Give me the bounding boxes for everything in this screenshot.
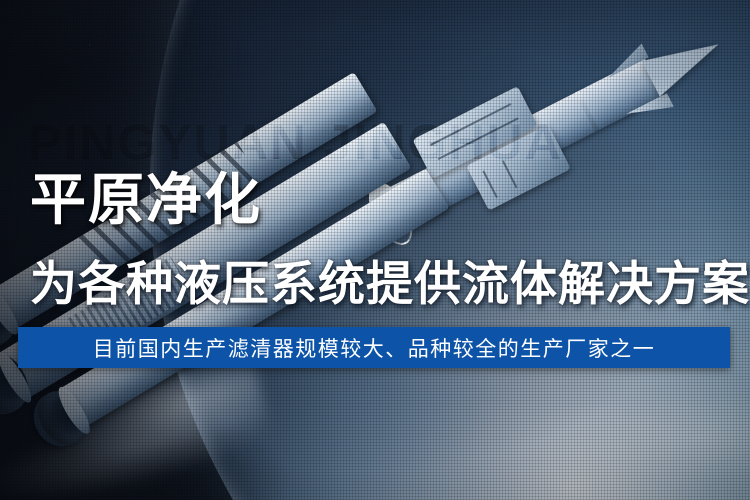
promo-banner: PINGYUAN JINGHUA 平原净化 为各种液压系统提供流体解决方案 目前… [0, 0, 750, 500]
tagline-bar: 目前国内生产滤清器规模较大、品种较全的生产厂家之一 [18, 327, 730, 368]
banner-title: 平原净化 [30, 172, 262, 228]
vignette-overlay [0, 0, 750, 500]
banner-subtitle: 为各种液压系统提供流体解决方案 [30, 260, 750, 307]
tagline-text: 目前国内生产滤清器规模较大、品种较全的生产厂家之一 [18, 327, 730, 368]
